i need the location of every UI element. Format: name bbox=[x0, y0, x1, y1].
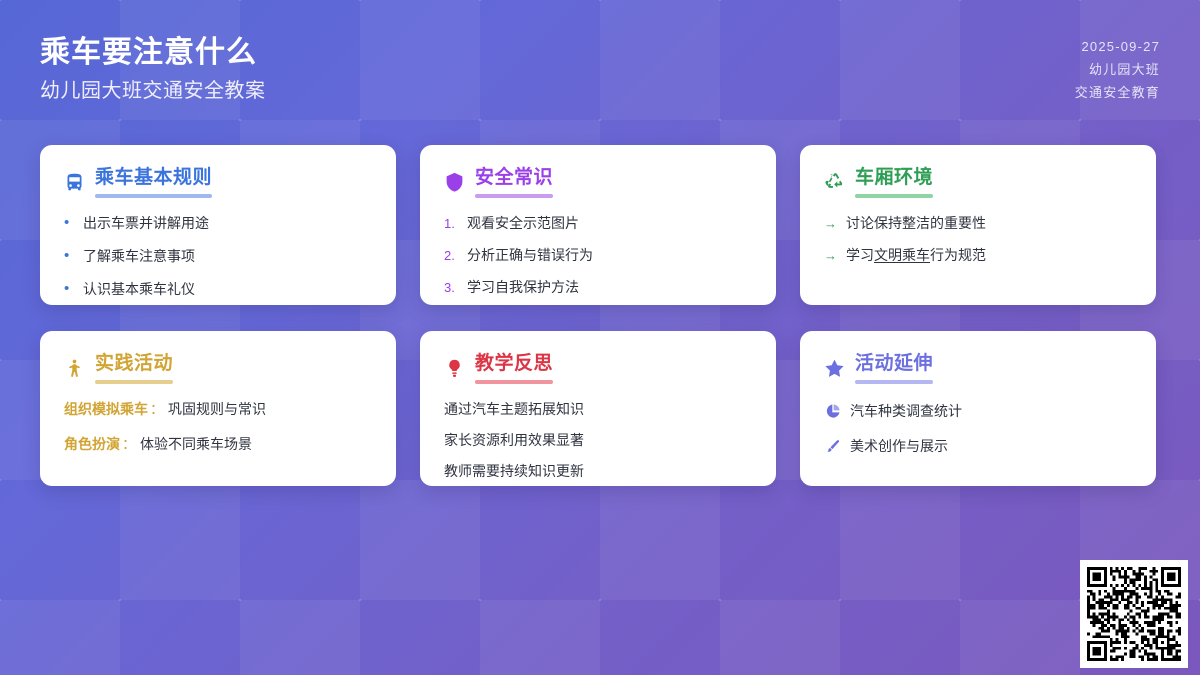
card-title-underline bbox=[95, 380, 173, 384]
card-title-wrap: 活动延伸 bbox=[855, 353, 933, 384]
list-item: 3.学习自我保护方法 bbox=[444, 278, 752, 297]
list-item-label: 分析正确与错误行为 bbox=[467, 246, 752, 265]
item-value: 巩固规则与常识 bbox=[168, 400, 266, 419]
card-活动延伸: 活动延伸汽车种类调查统计美术创作与展示 bbox=[800, 331, 1156, 486]
card-title: 乘车基本规则 bbox=[95, 167, 212, 190]
list-item-label: 学习自我保护方法 bbox=[467, 278, 752, 297]
pie-chart-icon bbox=[824, 403, 841, 420]
list-item-marker: • bbox=[64, 246, 74, 266]
card-header: 实践活动 bbox=[64, 353, 372, 384]
item-separator: ： bbox=[150, 400, 166, 419]
card-body: 通过汽车主题拓展知识家长资源利用效果显著教师需要持续知识更新 bbox=[444, 400, 752, 481]
list-item-marker: → bbox=[824, 215, 837, 233]
list-item-label: 出示车票并讲解用途 bbox=[83, 214, 372, 233]
qr-code-container[interactable] bbox=[1080, 560, 1188, 668]
item-separator: ： bbox=[122, 435, 138, 454]
bus-icon bbox=[64, 172, 85, 193]
list-item-marker: 3. bbox=[444, 279, 458, 297]
list-item: 组织模拟乘车：巩固规则与常识 bbox=[64, 400, 372, 419]
list-item: 2.分析正确与错误行为 bbox=[444, 246, 752, 265]
card-body: 1.观看安全示范图片2.分析正确与错误行为3.学习自我保护方法 bbox=[444, 214, 752, 297]
card-title-underline bbox=[475, 194, 553, 198]
card-title: 活动延伸 bbox=[855, 353, 933, 376]
list-item: •出示车票并讲解用途 bbox=[64, 214, 372, 234]
list-item-label: 美术创作与展示 bbox=[850, 437, 1132, 456]
card-header: 活动延伸 bbox=[824, 353, 1132, 384]
card-教学反思: 教学反思通过汽车主题拓展知识家长资源利用效果显著教师需要持续知识更新 bbox=[420, 331, 776, 486]
list-item: 1.观看安全示范图片 bbox=[444, 214, 752, 233]
card-header: 乘车基本规则 bbox=[64, 167, 372, 198]
card-title-wrap: 乘车基本规则 bbox=[95, 167, 212, 198]
paintbrush-icon bbox=[824, 437, 841, 454]
card-header: 安全常识 bbox=[444, 167, 752, 198]
card-title: 安全常识 bbox=[475, 167, 553, 190]
qr-code[interactable] bbox=[1087, 567, 1181, 661]
header-meta-block: 2025-09-27 幼儿园大班 交通安全教育 bbox=[1075, 34, 1160, 103]
star-icon bbox=[824, 358, 845, 379]
list-item: 通过汽车主题拓展知识 bbox=[444, 400, 752, 419]
card-title-underline bbox=[475, 380, 553, 384]
list-item-label: 认识基本乘车礼仪 bbox=[83, 280, 372, 299]
recycle-icon bbox=[824, 172, 845, 193]
meta-grade: 幼儿园大班 bbox=[1075, 61, 1160, 80]
card-title-underline bbox=[855, 380, 933, 384]
list-item-marker: • bbox=[64, 213, 74, 233]
card-grid: 乘车基本规则•出示车票并讲解用途•了解乘车注意事项•认识基本乘车礼仪安全常识1.… bbox=[40, 145, 1160, 486]
list-item: 家长资源利用效果显著 bbox=[444, 431, 752, 450]
list-item: •了解乘车注意事项 bbox=[64, 247, 372, 267]
lightbulb-icon bbox=[444, 358, 465, 379]
meta-date: 2025-09-27 bbox=[1075, 38, 1160, 57]
card-title-underline bbox=[855, 194, 933, 198]
child-icon bbox=[64, 358, 85, 379]
card-title-wrap: 教学反思 bbox=[475, 353, 553, 384]
card-title-wrap: 实践活动 bbox=[95, 353, 173, 384]
list-item-label: 观看安全示范图片 bbox=[467, 214, 752, 233]
card-body: 组织模拟乘车：巩固规则与常识角色扮演：体验不同乘车场景 bbox=[64, 400, 372, 454]
emphasised-text: 文明乘车 bbox=[874, 247, 930, 263]
list-item: →讨论保持整洁的重要性 bbox=[824, 214, 1132, 233]
list-item-marker: 2. bbox=[444, 247, 458, 265]
list-item: 汽车种类调查统计 bbox=[824, 400, 1132, 421]
card-header: 车厢环境 bbox=[824, 167, 1132, 198]
card-title: 车厢环境 bbox=[855, 167, 933, 190]
list-item-label: 汽车种类调查统计 bbox=[850, 402, 1132, 421]
list-item-label: 学习文明乘车行为规范 bbox=[846, 246, 1132, 265]
card-title-wrap: 车厢环境 bbox=[855, 167, 933, 198]
slide-header: 乘车要注意什么 幼儿园大班交通安全教案 2025-09-27 幼儿园大班 交通安… bbox=[0, 0, 1200, 130]
card-body: →讨论保持整洁的重要性→学习文明乘车行为规范 bbox=[824, 214, 1132, 265]
list-item-marker: 1. bbox=[444, 215, 458, 233]
list-item-label: 了解乘车注意事项 bbox=[83, 247, 372, 266]
item-key: 角色扮演 bbox=[64, 435, 120, 454]
card-车厢环境: 车厢环境→讨论保持整洁的重要性→学习文明乘车行为规范 bbox=[800, 145, 1156, 305]
card-title: 教学反思 bbox=[475, 353, 553, 376]
list-item-marker: → bbox=[824, 247, 837, 265]
card-title: 实践活动 bbox=[95, 353, 173, 376]
plain-text: 行为规范 bbox=[930, 247, 986, 263]
card-实践活动: 实践活动组织模拟乘车：巩固规则与常识角色扮演：体验不同乘车场景 bbox=[40, 331, 396, 486]
card-安全常识: 安全常识1.观看安全示范图片2.分析正确与错误行为3.学习自我保护方法 bbox=[420, 145, 776, 305]
plain-text: 学习 bbox=[846, 247, 874, 263]
list-item: 角色扮演：体验不同乘车场景 bbox=[64, 435, 372, 454]
card-title-underline bbox=[95, 194, 212, 198]
list-item: 美术创作与展示 bbox=[824, 434, 1132, 455]
card-header: 教学反思 bbox=[444, 353, 752, 384]
item-key: 组织模拟乘车 bbox=[64, 400, 148, 419]
card-body: •出示车票并讲解用途•了解乘车注意事项•认识基本乘车礼仪 bbox=[64, 214, 372, 301]
card-乘车基本规则: 乘车基本规则•出示车票并讲解用途•了解乘车注意事项•认识基本乘车礼仪 bbox=[40, 145, 396, 305]
header-title-block: 乘车要注意什么 幼儿园大班交通安全教案 bbox=[40, 34, 266, 104]
slide-root: 乘车要注意什么 幼儿园大班交通安全教案 2025-09-27 幼儿园大班 交通安… bbox=[0, 0, 1200, 675]
card-body: 汽车种类调查统计美术创作与展示 bbox=[824, 400, 1132, 456]
shield-icon bbox=[444, 172, 465, 193]
page-title: 乘车要注意什么 bbox=[40, 34, 266, 72]
item-value: 体验不同乘车场景 bbox=[140, 435, 252, 454]
card-title-wrap: 安全常识 bbox=[475, 167, 553, 198]
list-item: •认识基本乘车礼仪 bbox=[64, 280, 372, 300]
meta-subject: 交通安全教育 bbox=[1075, 84, 1160, 103]
list-item-label: 讨论保持整洁的重要性 bbox=[846, 214, 1132, 233]
list-item: →学习文明乘车行为规范 bbox=[824, 246, 1132, 265]
page-subtitle: 幼儿园大班交通安全教案 bbox=[40, 78, 266, 104]
list-item-marker: • bbox=[64, 279, 74, 299]
list-item: 教师需要持续知识更新 bbox=[444, 462, 752, 481]
